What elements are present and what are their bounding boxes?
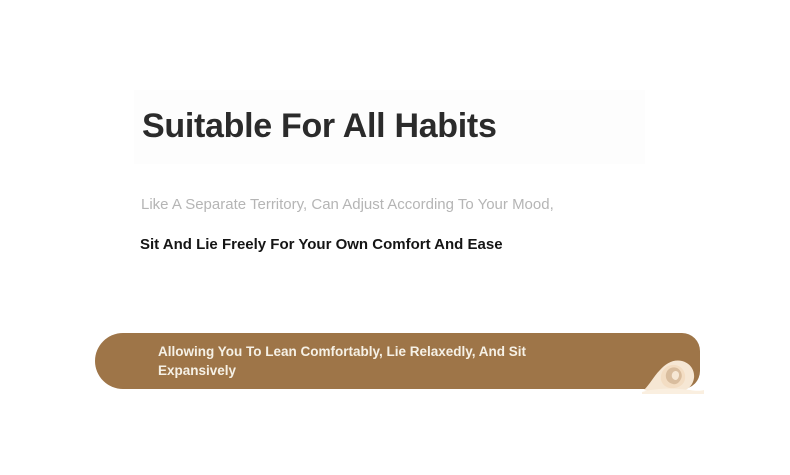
- feature-banner: Allowing You To Lean Comfortably, Lie Re…: [95, 333, 700, 389]
- subtitle-emphasis-line: Sit And Lie Freely For Your Own Comfort …: [140, 234, 700, 256]
- page-title: Suitable For All Habits: [142, 104, 662, 148]
- feature-banner-text: Allowing You To Lean Comfortably, Lie Re…: [158, 342, 588, 380]
- promo-slide: Suitable For All Habits Like A Separate …: [0, 0, 790, 475]
- subtitle-muted-line: Like A Separate Territory, Can Adjust Ac…: [141, 194, 701, 216]
